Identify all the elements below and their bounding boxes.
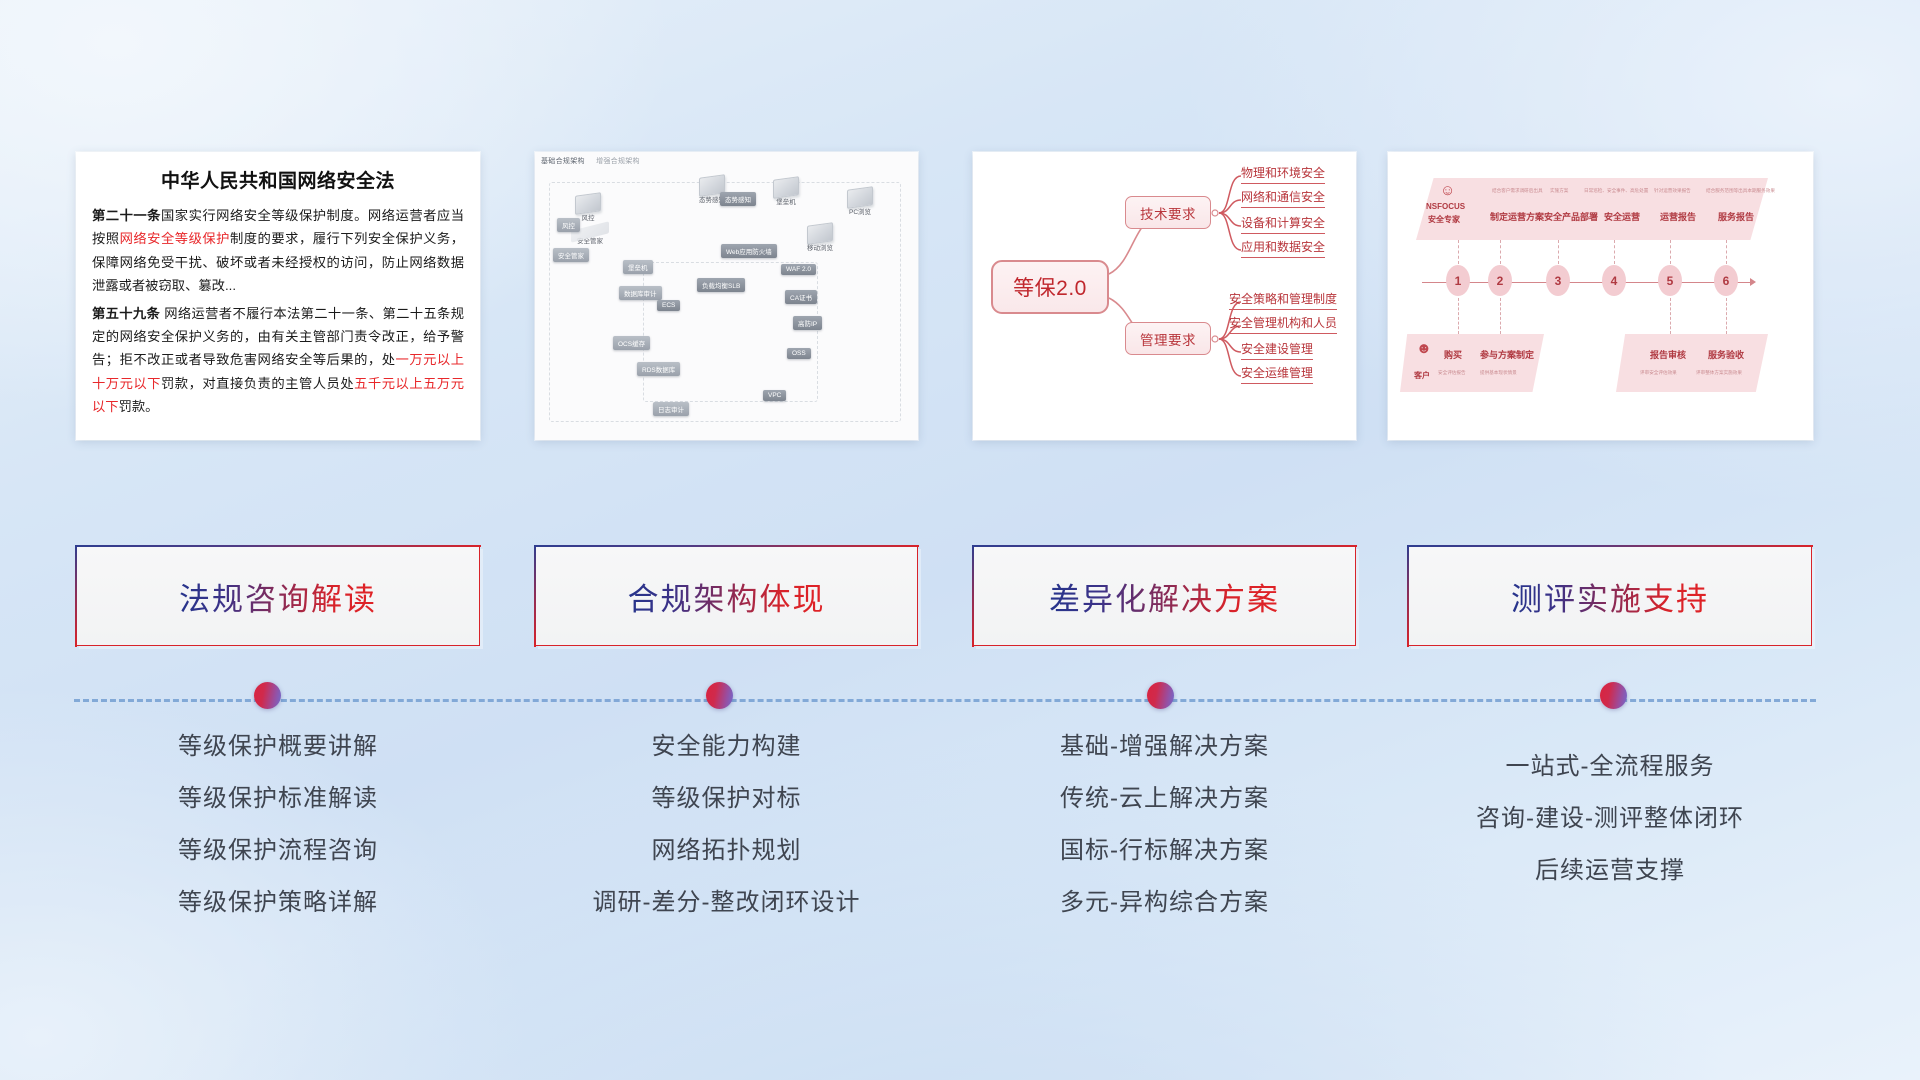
mindmap-branch-management: 管理要求 [1125, 322, 1211, 355]
section-header-label: 差异化解决方案 [1049, 574, 1280, 619]
pill-waf2: WAF 2.0 [781, 264, 816, 275]
roadmap-connector [1670, 298, 1671, 334]
roadmap-connector [1458, 298, 1459, 334]
roadmap-step: 5 [1658, 265, 1682, 296]
node-label: 移动浏览 [793, 245, 847, 252]
roadmap-connector [1726, 298, 1727, 334]
diagram-node-mobile: 移动浏览 [793, 224, 847, 252]
card-cybersecurity-law[interactable]: 中华人民共和国网络安全法 第二十一条国家实行网络安全等级保护制度。网络运营者应当… [76, 152, 480, 440]
mobile-icon [807, 222, 833, 245]
pill-vpc: VPC [763, 390, 786, 401]
law-article-21: 第二十一条国家实行网络安全等级保护制度。网络运营者应当按照网络安全等级保护制度的… [92, 204, 464, 298]
section-header-evaluation-support[interactable]: 测评实施支持 [1408, 546, 1812, 646]
mindmap-leaf: 应用和数据安全 [1241, 238, 1325, 258]
detail-lists: 等级保护概要讲解 等级保护标准解读 等级保护流程咨询 等级保护策略详解 安全能力… [0, 735, 1920, 965]
roadmap-connector [1500, 240, 1501, 264]
server-cube-icon [773, 176, 799, 199]
server-cube-icon [575, 192, 601, 215]
card-cloud-architecture[interactable]: 基础合规架构 增强合规架构 风控 安全管家 态势感知 [535, 152, 918, 440]
section-header-label: 法规咨询解读 [179, 574, 377, 619]
pill-slb: 负载均衡SLB [697, 278, 745, 292]
pill-oss: OSS [787, 348, 811, 359]
roadmap-top-label: 制定运营方案 [1490, 210, 1544, 223]
pc-icon [847, 186, 873, 209]
roadmap-bottom-label: 购买 [1444, 348, 1462, 361]
pill-rizhi-shenji: 日志审计 [653, 402, 689, 416]
roadmap-expert-label-2: 安全专家 [1428, 214, 1460, 225]
roadmap-top-sub: 日常巡检、安全事件、高危处置 [1584, 188, 1648, 194]
node-label: 堡垒机 [761, 199, 811, 206]
roadmap-top-label: 安全产品部署 [1544, 210, 1598, 223]
roadmap-top-label: 运营报告 [1660, 210, 1696, 223]
roadmap-top-label: 服务报告 [1718, 210, 1754, 223]
mindmap-leaf: 安全策略和管理制度 [1229, 290, 1337, 310]
article-21-highlight: 网络安全等级保护 [120, 231, 230, 246]
roadmap-bottom-label: 报告审核 [1650, 348, 1686, 361]
roadmap-top-label: 安全运营 [1604, 210, 1640, 223]
law-article-59: 第五十九条 网络运营者不履行本法第二十一条、第二十五条规定的网络安全保护义务的，… [92, 302, 464, 419]
list-item: 网络拓扑规划 [535, 839, 918, 863]
roadmap-connector [1458, 240, 1459, 264]
pill-fengkong: 风控 [557, 218, 580, 232]
roadmap-connector [1614, 240, 1615, 264]
timeline-dashed-line [74, 699, 1816, 702]
pill-ocs: OCS缓存 [613, 336, 650, 350]
roadmap-step: 2 [1488, 265, 1512, 296]
list-item: 咨询-建设-测评整体闭环 [1408, 807, 1812, 831]
section-header-label: 测评实施支持 [1511, 574, 1709, 619]
slide-root: 中华人民共和国网络安全法 第二十一条国家实行网络安全等级保护制度。网络运营者应当… [0, 0, 1920, 1080]
pill-web-firewall: Web应用防火墙 [721, 244, 777, 258]
tab-basic-framework[interactable]: 基础合规架构 [541, 158, 585, 165]
list-item: 后续运营支撑 [1408, 859, 1812, 883]
cards-row: 中华人民共和国网络安全法 第二十一条国家实行网络安全等级保护制度。网络运营者应当… [0, 152, 1920, 442]
roadmap-bottom-band-right [1616, 334, 1768, 392]
list-item: 安全能力构建 [535, 735, 918, 759]
roadmap-connector [1726, 240, 1727, 264]
list-item: 基础-增强解决方案 [973, 735, 1356, 759]
list-item: 多元-异构综合方案 [973, 891, 1356, 915]
card-mindmap-dengbao[interactable]: 等保2.0 技术要求 管理要求 物理和环境安全 网络和通信安全 设备和计算安全 … [973, 152, 1356, 440]
list-item: 等级保护流程咨询 [76, 839, 480, 863]
timeline-dot-2[interactable] [706, 682, 733, 709]
roadmap-connector [1670, 240, 1671, 264]
timeline [0, 690, 1920, 730]
mindmap-branch-technical: 技术要求 [1125, 196, 1211, 229]
roadmap-step: 4 [1602, 265, 1626, 296]
section-header-differentiated-solution[interactable]: 差异化解决方案 [973, 546, 1356, 646]
roadmap-bottom-sub: 提供基本现状情景 [1480, 370, 1517, 376]
tab-enhanced-framework[interactable]: 增强合规架构 [596, 158, 640, 165]
diagram-node-anquanguanjia: 安全管家 [565, 230, 615, 245]
pill-rds: RDS数据库 [637, 362, 680, 376]
law-body: 中华人民共和国网络安全法 第二十一条国家实行网络安全等级保护制度。网络运营者应当… [76, 152, 480, 427]
node-label: PC浏览 [833, 209, 887, 216]
mindmap: 等保2.0 技术要求 管理要求 物理和环境安全 网络和通信安全 设备和计算安全 … [973, 152, 1356, 440]
article-21-label: 第二十一条 [92, 208, 161, 223]
roadmap-arrow-icon [1750, 278, 1756, 286]
roadmap-axis [1422, 282, 1752, 283]
mindmap-leaf: 安全建设管理 [1241, 340, 1313, 360]
list-item: 等级保护对标 [535, 787, 918, 811]
list-item: 等级保护策略详解 [76, 891, 480, 915]
law-title: 中华人民共和国网络安全法 [92, 166, 464, 193]
card-nsfocus-roadmap[interactable]: ☺ NSFOCUS 安全专家 ☻ 客户 结合客户需求调研后出具 制定运营方案 实… [1388, 152, 1813, 440]
roadmap-bottom-label: 参与方案制定 [1480, 348, 1534, 361]
pill-taishiganzhi: 态势感知 [720, 192, 756, 206]
mindmap-leaf: 安全运维管理 [1241, 364, 1313, 384]
detail-list-evaluation: 一站式-全流程服务 咨询-建设-测评整体闭环 后续运营支撑 [1408, 755, 1812, 911]
mindmap-leaf: 物理和环境安全 [1241, 164, 1325, 184]
roadmap-step: 6 [1714, 265, 1738, 296]
list-item: 调研-差分-整改闭环设计 [535, 891, 918, 915]
timeline-dot-3[interactable] [1147, 682, 1174, 709]
section-header-regulation-consulting[interactable]: 法规咨询解读 [76, 546, 480, 646]
roadmap-top-sub: 结合服务范围等出具本期服务效果 [1706, 188, 1775, 194]
section-header-label: 合规架构体现 [628, 574, 826, 619]
list-item: 等级保护概要讲解 [76, 735, 480, 759]
list-item: 国标-行标解决方案 [973, 839, 1356, 863]
roadmap-bottom-sub: 评审整体方案实施效果 [1696, 370, 1742, 376]
architecture-tabs: 基础合规架构 增强合规架构 [541, 156, 649, 166]
section-header-compliance-architecture[interactable]: 合规架构体现 [535, 546, 918, 646]
article-59-text-b: 罚款，对直接负责的主管人员处 [161, 376, 354, 391]
roadmap-bottom-label: 服务验收 [1708, 348, 1744, 361]
timeline-dot-1[interactable] [254, 682, 281, 709]
pill-ecs: ECS [657, 300, 680, 311]
article-59-label: 第五十九条 [92, 306, 160, 321]
diagram-node-baoleiji: 堡垒机 [761, 178, 811, 206]
pill-anquanguanjia: 安全管家 [553, 248, 589, 262]
roadmap-diagram: ☺ NSFOCUS 安全专家 ☻ 客户 结合客户需求调研后出具 制定运营方案 实… [1388, 152, 1813, 440]
diagram-node-pc: PC浏览 [833, 188, 887, 216]
roadmap-top-sub: 针对运营效果报告 [1654, 188, 1691, 194]
roadmap-step: 3 [1546, 265, 1570, 296]
customer-person-icon: ☻ [1416, 340, 1432, 357]
roadmap-bottom-sub: 安全评估报告 [1438, 370, 1466, 376]
detail-list-solution: 基础-增强解决方案 传统-云上解决方案 国标-行标解决方案 多元-异构综合方案 [973, 735, 1356, 943]
list-item: 等级保护标准解读 [76, 787, 480, 811]
list-item: 传统-云上解决方案 [973, 787, 1356, 811]
roadmap-customer-label: 客户 [1414, 370, 1430, 381]
mindmap-leaf: 安全管理机构和人员 [1229, 314, 1337, 334]
pill-gaofang-ip: 高防IP [793, 316, 822, 330]
roadmap-top-sub: 结合客户需求调研后出具 [1492, 188, 1543, 194]
mindmap-leaf: 网络和通信安全 [1241, 188, 1325, 208]
mindmap-root-node: 等保2.0 [991, 260, 1109, 314]
detail-list-architecture: 安全能力构建 等级保护对标 网络拓扑规划 调研-差分-整改闭环设计 [535, 735, 918, 943]
pill-shujukushenji: 数据库审计 [619, 286, 662, 300]
list-item: 一站式-全流程服务 [1408, 755, 1812, 779]
expert-person-icon: ☺ [1440, 182, 1455, 199]
roadmap-connector [1558, 240, 1559, 264]
architecture-diagram: 基础合规架构 增强合规架构 风控 安全管家 态势感知 [535, 152, 918, 440]
roadmap-step: 1 [1446, 265, 1470, 296]
roadmap-expert-label: NSFOCUS [1426, 202, 1465, 211]
section-headers: 法规咨询解读 合规架构体现 差异化解决方案 测评实施支持 [0, 546, 1920, 650]
article-59-text-c: 罚款。 [119, 399, 159, 414]
mindmap-leaf: 设备和计算安全 [1241, 214, 1325, 234]
roadmap-bottom-sub: 评审安全评估效果 [1640, 370, 1677, 376]
roadmap-top-sub: 实施方案 [1550, 188, 1568, 194]
pill-baoleiji: 堡垒机 [623, 260, 653, 274]
detail-list-regulation: 等级保护概要讲解 等级保护标准解读 等级保护流程咨询 等级保护策略详解 [76, 735, 480, 943]
timeline-dot-4[interactable] [1600, 682, 1627, 709]
pill-ca: CA证书 [785, 290, 817, 304]
roadmap-connector [1500, 298, 1501, 334]
